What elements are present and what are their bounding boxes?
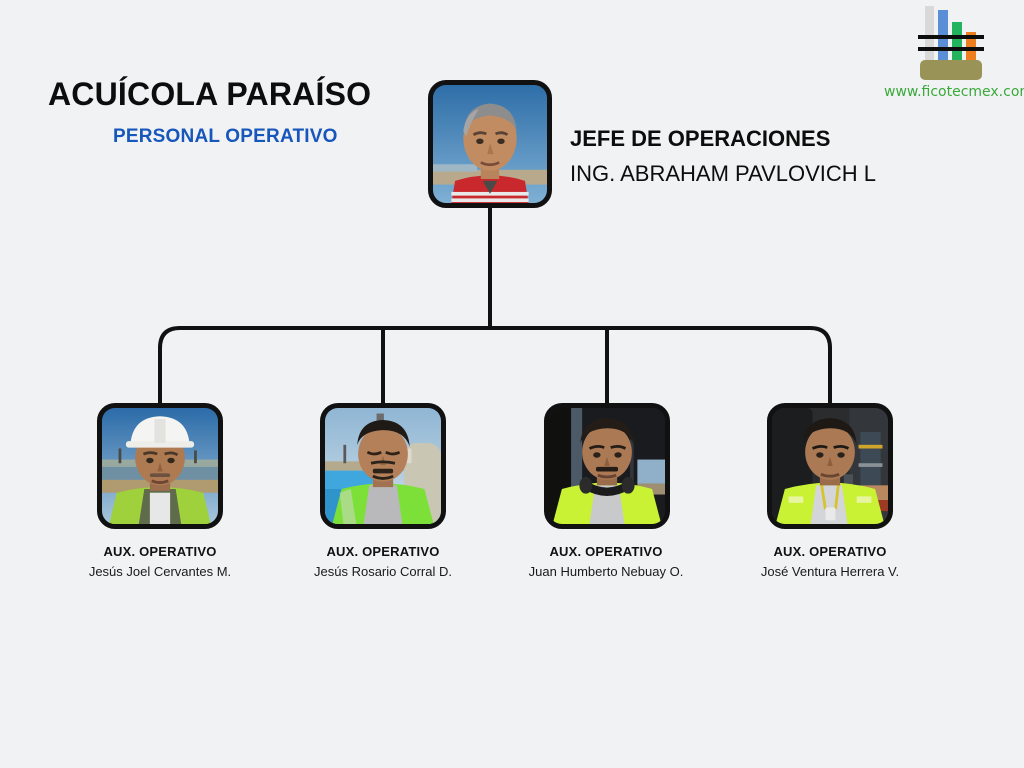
ficotecmex-bars-icon [884, 2, 1024, 82]
manager-portrait-image [433, 85, 547, 203]
manager-name-label: ING. ABRAHAM PAVLOVICH L [570, 161, 876, 187]
manager-photo [428, 80, 552, 208]
staff-photo-3 [544, 403, 670, 529]
staff-photo-4 [767, 403, 893, 529]
staff-role-4: AUX. OPERATIVO [715, 544, 945, 559]
page-title: ACUÍCOLA PARAÍSO [48, 76, 371, 113]
company-logo: www.ficotecmex.com [884, 2, 1024, 106]
page-subtitle: PERSONAL OPERATIVO [113, 126, 338, 148]
staff-label-3: AUX. OPERATIVO Juan Humberto Nebuay O. [491, 544, 721, 579]
staff-label-2: AUX. OPERATIVO Jesús Rosario Corral D. [268, 544, 498, 579]
staff-portrait-image-4 [772, 408, 888, 524]
staff-label-1: AUX. OPERATIVO Jesús Joel Cervantes M. [45, 544, 275, 579]
staff-role-1: AUX. OPERATIVO [45, 544, 275, 559]
manager-role-label: JEFE DE OPERACIONES [570, 126, 830, 152]
staff-name-4: José Ventura Herrera V. [715, 564, 945, 579]
staff-portrait-image-3 [549, 408, 665, 524]
staff-role-2: AUX. OPERATIVO [268, 544, 498, 559]
staff-name-1: Jesús Joel Cervantes M. [45, 564, 275, 579]
staff-photo-1 [97, 403, 223, 529]
staff-name-3: Juan Humberto Nebuay O. [491, 564, 721, 579]
staff-portrait-image-2 [325, 408, 441, 524]
logo-url-text: www.ficotecmex.com [884, 84, 1024, 100]
org-chart-canvas: ACUÍCOLA PARAÍSO PERSONAL OPERATIVO JEFE… [0, 0, 1024, 768]
staff-role-3: AUX. OPERATIVO [491, 544, 721, 559]
staff-name-2: Jesús Rosario Corral D. [268, 564, 498, 579]
staff-label-4: AUX. OPERATIVO José Ventura Herrera V. [715, 544, 945, 579]
staff-portrait-image-1 [102, 408, 218, 524]
staff-photo-2 [320, 403, 446, 529]
